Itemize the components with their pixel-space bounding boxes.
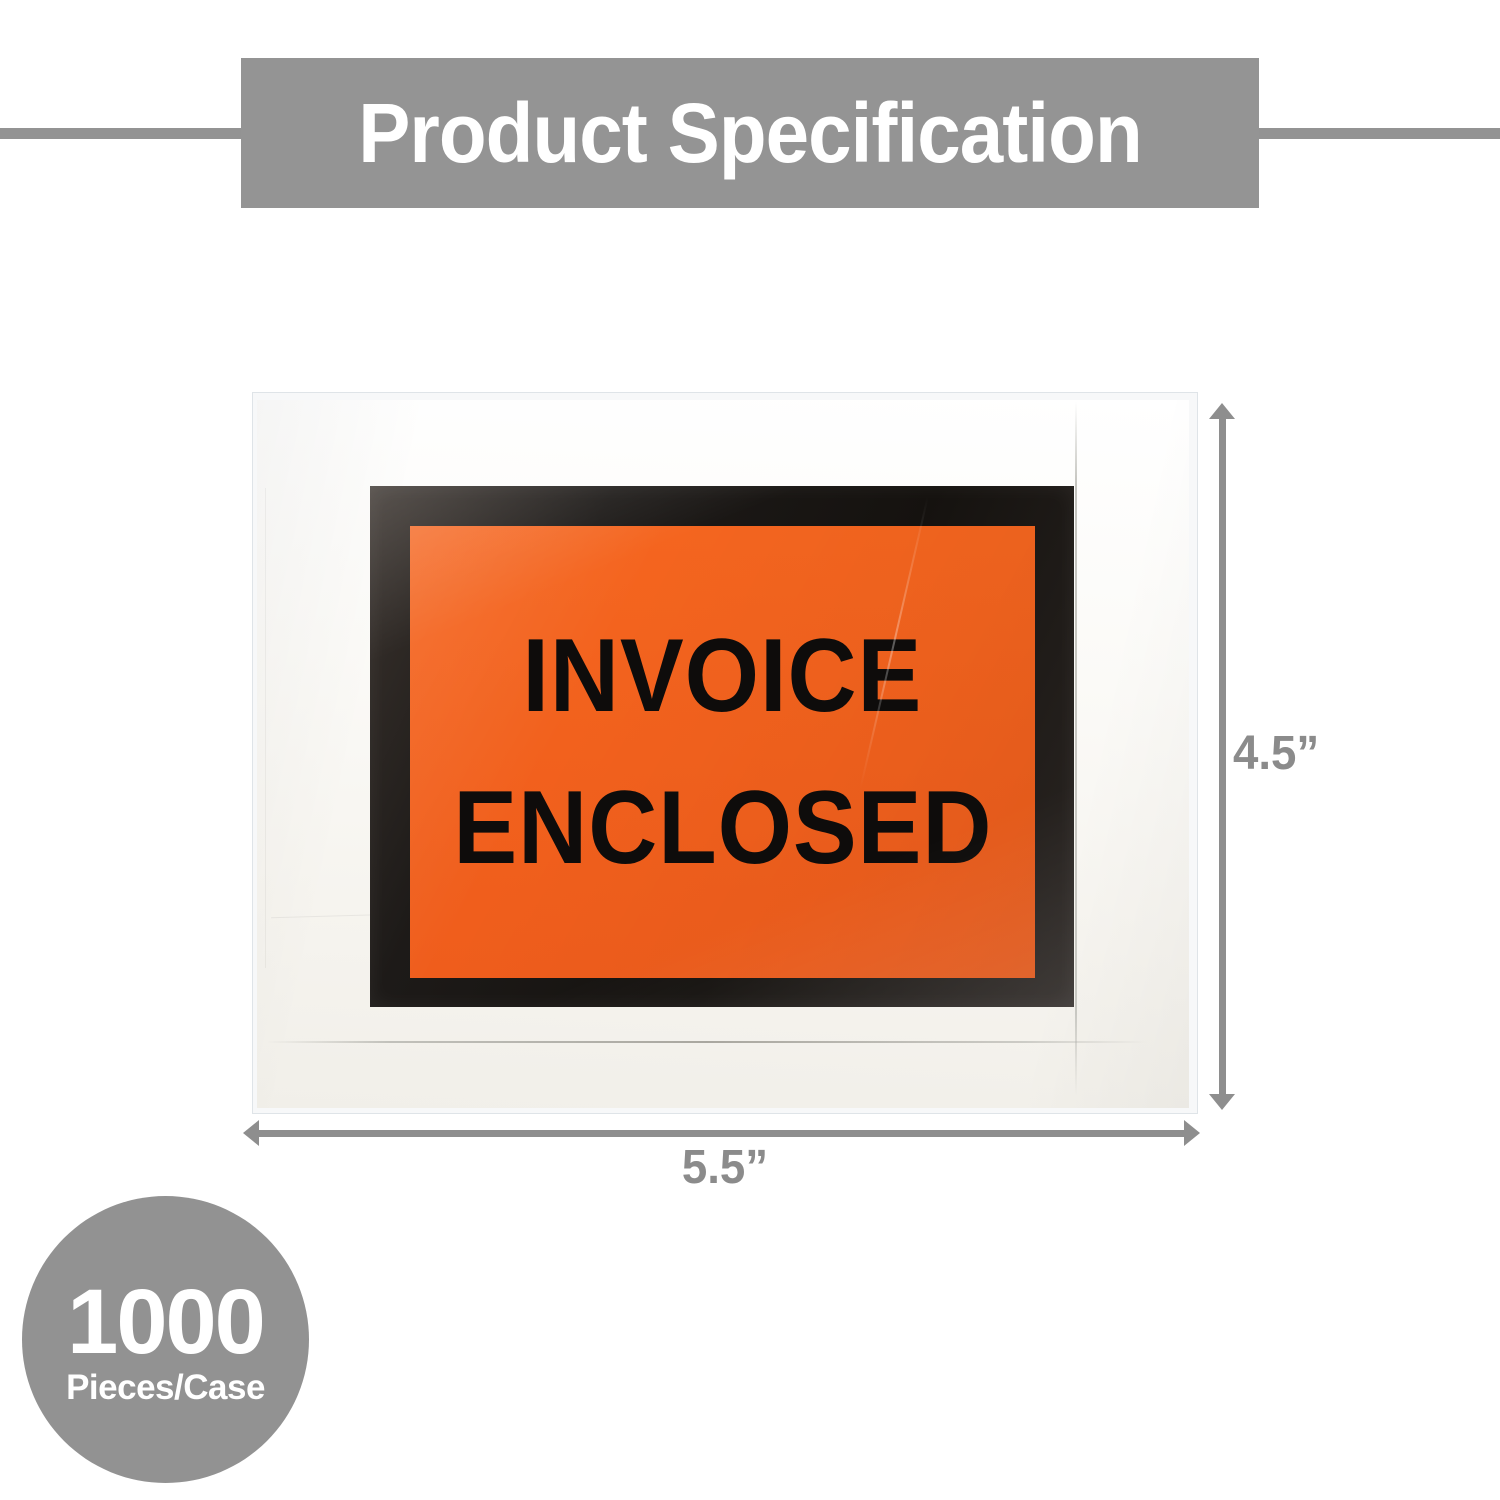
label-text-line-1: INVOICE [523, 624, 923, 728]
product-photo: INVOICE ENCLOSED [253, 393, 1197, 1113]
label-text-line-2: ENCLOSED [453, 776, 992, 880]
height-dimension-line [1219, 416, 1226, 1099]
quantity-badge: 1000 Pieces/Case [22, 1196, 309, 1483]
quantity-caption: Pieces/Case [66, 1370, 265, 1405]
page-title: Product Specification [277, 58, 1224, 208]
height-dimension-label: 4.5” [1233, 726, 1319, 781]
width-dimension-line [258, 1130, 1188, 1137]
label-orange-panel: INVOICE ENCLOSED [410, 526, 1035, 978]
envelope-bottom-seam [267, 1041, 1147, 1043]
width-dimension-label: 5.5” [36, 1140, 1414, 1195]
quantity-value: 1000 [67, 1280, 264, 1365]
height-arrow-down-icon [1209, 1094, 1235, 1110]
product-specification-page: Product Specification INVOICE ENCLOSED 4… [0, 0, 1500, 1500]
envelope-flap-seam [1075, 402, 1077, 1096]
envelope-crease [265, 488, 266, 968]
